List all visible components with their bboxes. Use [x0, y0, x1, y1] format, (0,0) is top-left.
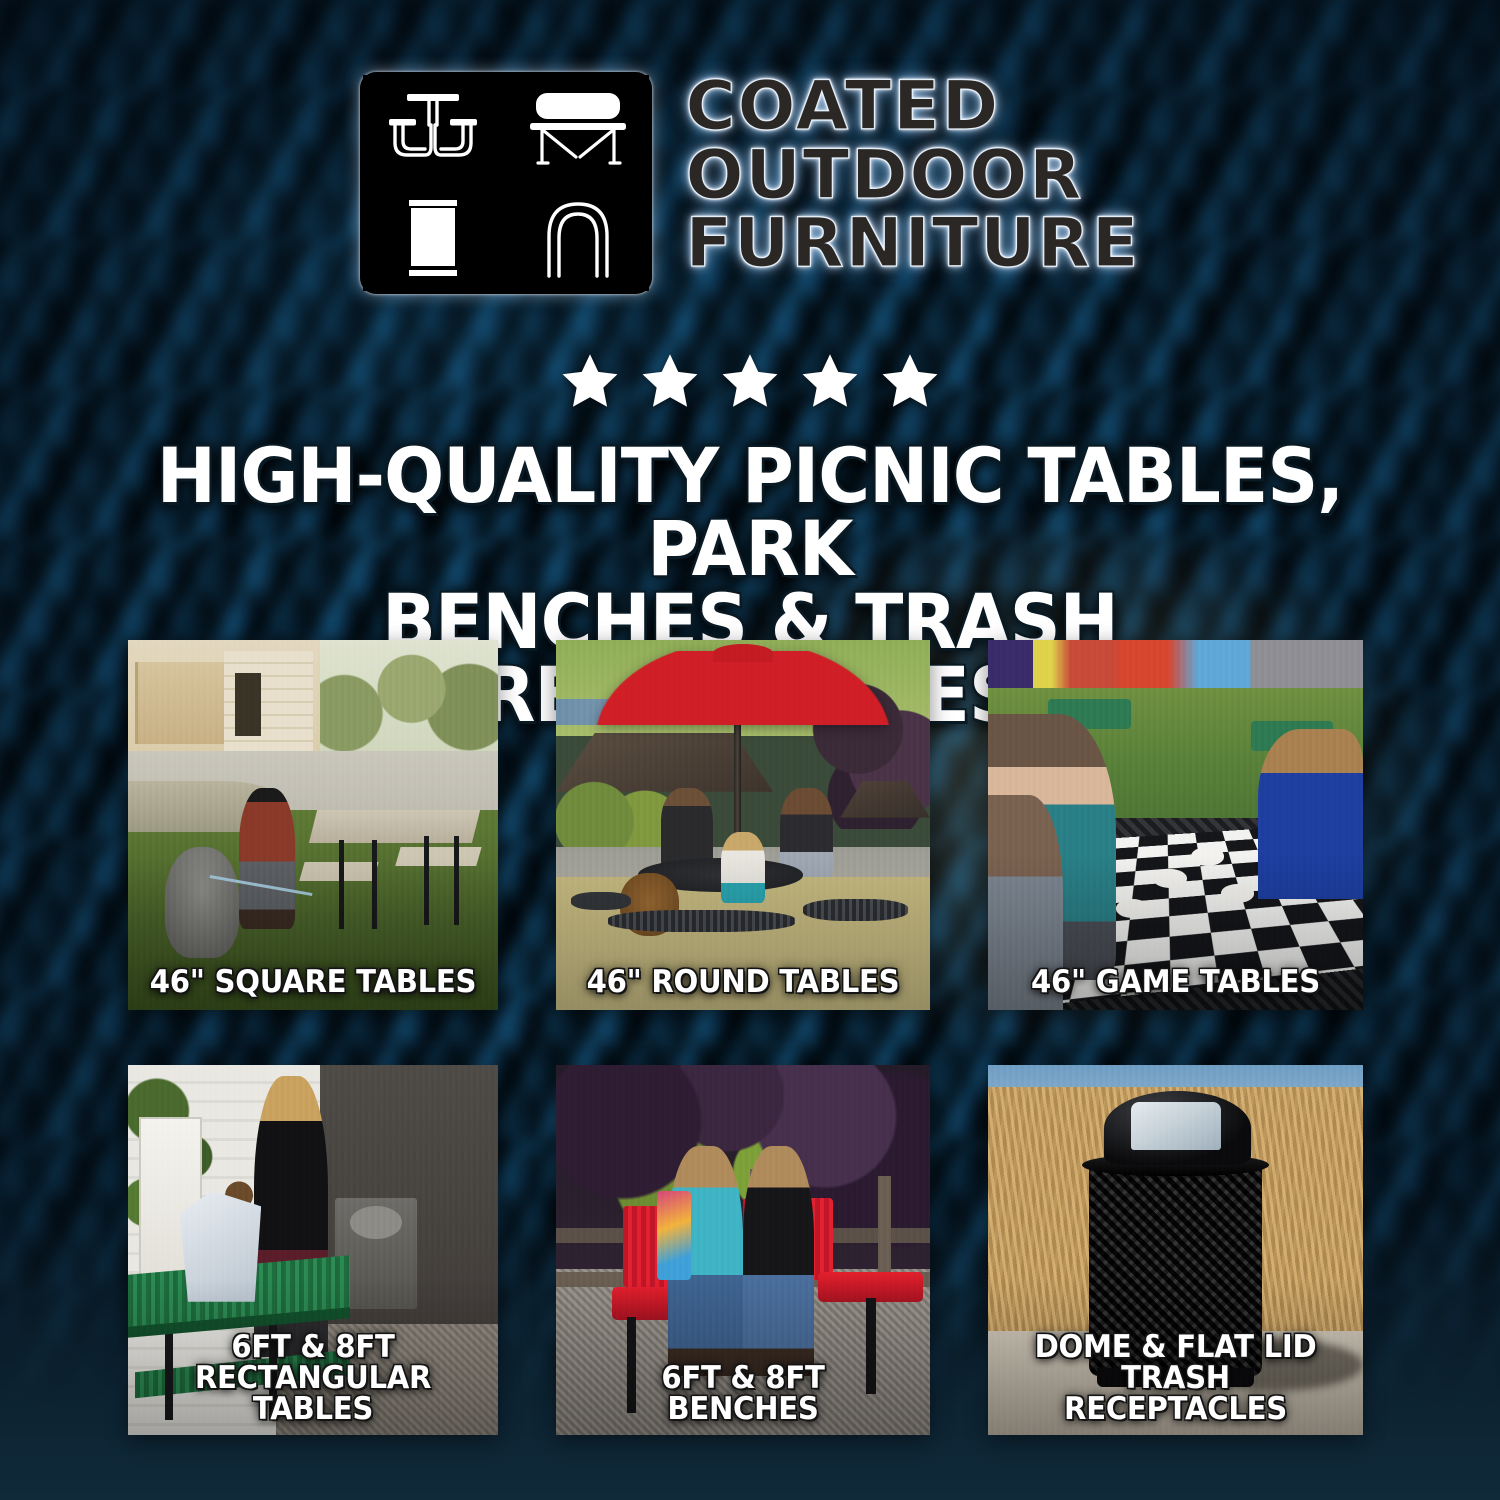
arch-bike-rack-icon: [507, 185, 649, 292]
product-grid: 46" SQUARE TABLES: [128, 640, 1375, 1435]
caption-line-1: 46" GAME TABLES: [1031, 964, 1320, 1000]
star-icon-4: [797, 350, 863, 419]
star-icon-2: [637, 350, 703, 419]
bench-side-icon: [507, 75, 649, 182]
headline-line-1: HIGH-QUALITY PICNIC TABLES, PARK: [108, 440, 1391, 586]
product-caption-rectangular-tables: 6FT & 8FT RECTANGULAR TABLES: [145, 1332, 482, 1425]
star-rating: [0, 350, 1500, 419]
caption-line-1: 46" ROUND TABLES: [587, 964, 900, 1000]
caption-line-2: RECTANGULAR TABLES: [145, 1363, 482, 1425]
brand-name-line-1: COATED: [686, 74, 1141, 141]
promo-banner: COATED OUTDOOR FURNITURE HIGH-QUALITY PI…: [0, 0, 1500, 1500]
caption-line-1: 46" SQUARE TABLES: [150, 964, 477, 1000]
brand-name-line-3: FURNITURE: [686, 211, 1141, 278]
product-caption-benches: 6FT & 8FT BENCHES: [573, 1363, 913, 1425]
product-caption-round-tables: 46" ROUND TABLES: [573, 967, 913, 998]
brand-name-line-2: OUTDOOR: [686, 143, 1141, 210]
picnic-table-icon: [363, 75, 505, 182]
product-tile-game-tables[interactable]: 46" GAME TABLES: [988, 640, 1363, 1010]
caption-line-2: BENCHES: [573, 1394, 913, 1425]
product-caption-game-tables: 46" GAME TABLES: [1005, 967, 1346, 998]
star-icon-5: [877, 350, 943, 419]
product-caption-square-tables: 46" SQUARE TABLES: [145, 967, 482, 998]
product-tile-square-tables[interactable]: 46" SQUARE TABLES: [128, 640, 498, 1010]
product-tile-trash-receptacles[interactable]: DOME & FLAT LID TRASH RECEPTACLES: [988, 1065, 1363, 1435]
logo-icon-grid: [360, 72, 652, 294]
brand-wordmark: COATED OUTDOOR FURNITURE: [686, 72, 1141, 278]
brand-logo: COATED OUTDOOR FURNITURE: [0, 72, 1500, 294]
trash-receptacle-icon: [363, 185, 505, 292]
product-tile-round-tables[interactable]: 46" ROUND TABLES: [556, 640, 930, 1010]
product-tile-benches[interactable]: 6FT & 8FT BENCHES: [556, 1065, 930, 1435]
product-tile-rectangular-tables[interactable]: 6FT & 8FT RECTANGULAR TABLES: [128, 1065, 498, 1435]
star-icon-1: [557, 350, 623, 419]
product-caption-trash-receptacles: DOME & FLAT LID TRASH RECEPTACLES: [1005, 1332, 1346, 1425]
caption-line-2: TRASH RECEPTACLES: [1005, 1363, 1346, 1425]
star-icon-3: [717, 350, 783, 419]
